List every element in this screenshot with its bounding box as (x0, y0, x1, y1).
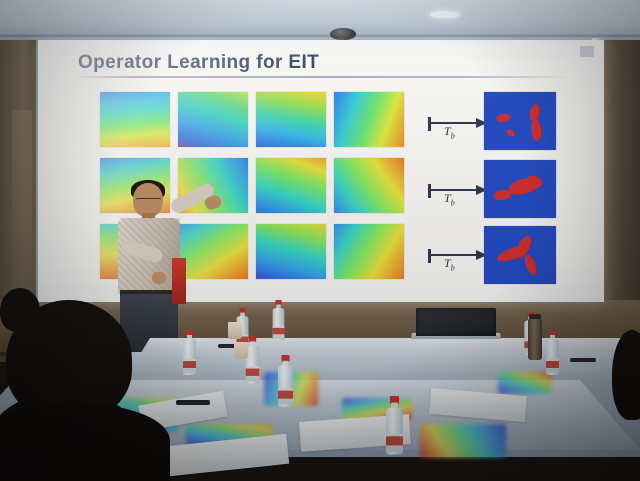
contour-plot-r0-c0 (100, 92, 170, 147)
arrow-tail (428, 117, 431, 131)
contour-plot-r0-c3 (334, 92, 404, 147)
wall-right (600, 40, 640, 340)
laptop-screen[interactable] (416, 308, 496, 336)
contour-bands (100, 92, 170, 147)
eit-reconstruction-2 (484, 226, 556, 284)
bottle-body (183, 339, 196, 375)
eyeglasses-icon (136, 198, 161, 205)
microphone-1[interactable] (176, 400, 210, 405)
contour-plot-r1-c3 (334, 158, 404, 213)
contour-bands (256, 224, 326, 279)
contour-plot-r0-c2 (256, 92, 326, 147)
eit-reconstruction-0 (484, 92, 556, 150)
bottle-label-band (386, 436, 403, 445)
arrow-tail (428, 184, 431, 198)
arrow-label-2: Tb (444, 256, 455, 272)
bottle-label-band (273, 328, 285, 334)
bottle-body (278, 365, 293, 406)
recessed-ceiling-light-icon (430, 11, 460, 18)
contour-bands (256, 92, 326, 147)
inclusion-shape-2 (522, 253, 539, 277)
tea-thermos-0[interactable] (528, 318, 542, 360)
slide-reflection-5 (420, 424, 506, 458)
audience-member-2 (0, 288, 40, 332)
title-divider (72, 76, 570, 78)
red-stand-object (172, 258, 186, 304)
bottle-label-band (546, 361, 559, 368)
inclusion-shape-3 (530, 119, 542, 142)
thermos-lid (529, 314, 541, 319)
contour-plot-r0-c1 (178, 92, 248, 147)
contour-bands (256, 158, 326, 213)
presenter-hand (152, 272, 166, 284)
arrow-label-1: Tb (444, 191, 455, 207)
bottle-label-band (183, 361, 196, 368)
bottle-label-band (246, 369, 260, 376)
paper-cup-1[interactable] (234, 342, 248, 359)
contour-bands (334, 92, 404, 147)
contour-plot-r1-c2 (256, 158, 326, 213)
contour-plot-r2-c3 (334, 224, 404, 279)
contour-bands (334, 224, 404, 279)
arrow-tail (428, 249, 431, 263)
bottle-body (386, 408, 403, 455)
arrow-label-0: Tb (444, 124, 455, 140)
wall-panel (12, 110, 32, 310)
operator-arrow-0: Tb (428, 108, 490, 138)
eit-reconstruction-1 (484, 160, 556, 218)
contour-bands (178, 92, 248, 147)
paper-cup-0[interactable] (228, 322, 242, 339)
contour-plot-r2-c2 (256, 224, 326, 279)
audience-shoulders (0, 404, 170, 481)
contour-bands (178, 224, 248, 279)
contour-bands (334, 158, 404, 213)
operator-arrow-1: Tb (428, 175, 490, 205)
slide-page-badge (580, 46, 594, 57)
microphone-2[interactable] (570, 358, 596, 362)
bottle-body (546, 339, 559, 375)
bottle-body (273, 308, 285, 340)
contour-plot-r2-c1 (178, 224, 248, 279)
inclusion-shape-0 (495, 113, 510, 124)
operator-arrow-2: Tb (428, 240, 490, 270)
bottle-label-band (278, 391, 293, 399)
inclusion-shape-1 (505, 128, 516, 138)
slide-reflection-6 (498, 372, 552, 394)
presentation-photo: Operator Learning for EIT TbTbTb (0, 0, 640, 481)
page-title: Operator Learning for EIT (78, 52, 319, 74)
ceiling-seam (0, 34, 640, 37)
